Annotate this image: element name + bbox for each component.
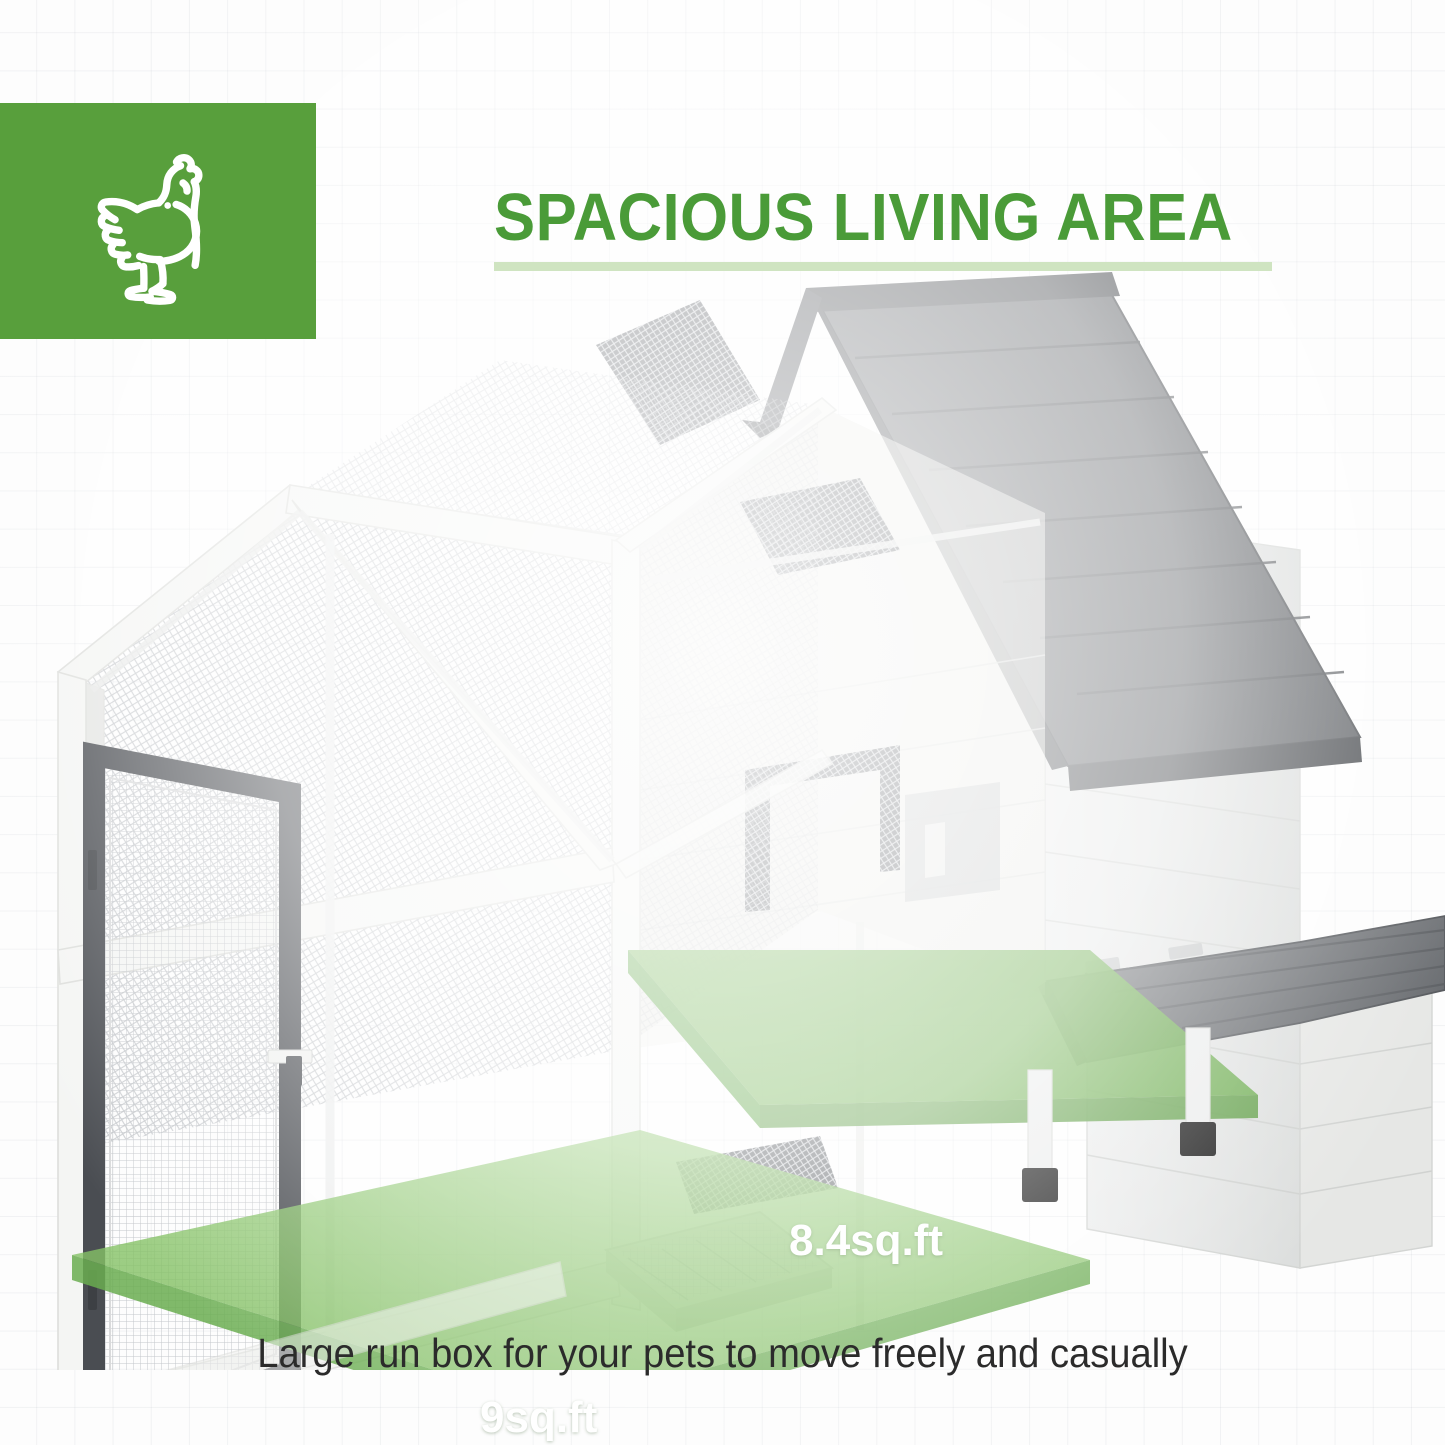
- page-title: SPACIOUS LIVING AREA: [494, 182, 1221, 254]
- product-illustration: 8.4sq.ft 9sq.ft: [0, 250, 1445, 1370]
- footer-caption: Large run box for your pets to move free…: [51, 1330, 1395, 1377]
- upper-area-label: 8.4sq.ft: [789, 1216, 943, 1266]
- rubber-foot: [1180, 1122, 1216, 1156]
- run-area-label: 9sq.ft: [480, 1393, 597, 1443]
- infographic-page: 8.4sq.ft 9sq.ft: [0, 0, 1445, 1445]
- chicken-badge: [0, 103, 316, 339]
- rubber-foot: [1022, 1168, 1058, 1202]
- title-underline: [494, 262, 1272, 271]
